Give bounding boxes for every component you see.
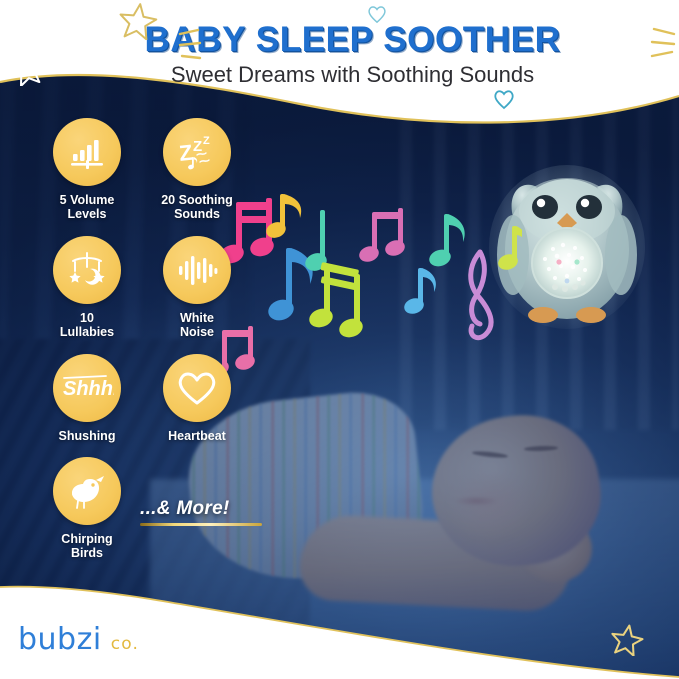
feature-row-3: Shhh... Shushing Heartbeat: [44, 354, 264, 443]
feature-chirping-birds[interactable]: Chirping Birds: [44, 457, 130, 561]
badge-circle: [53, 457, 121, 525]
title-accent-dashes-left: [178, 28, 210, 62]
heart-outline-icon: [176, 369, 218, 407]
feature-label-line1: 5 Volume: [60, 193, 115, 207]
badge-circle: Shhh...: [53, 354, 121, 422]
feature-label: 5 Volume Levels: [44, 193, 130, 222]
badge-circle: [53, 118, 121, 186]
music-note-9-treble-clef: [471, 252, 491, 338]
feature-row-2: 10 Lullabies: [44, 236, 264, 340]
badge-circle: [163, 354, 231, 422]
badge-circle: Z Z Z: [163, 118, 231, 186]
feature-label-line1: 10: [80, 311, 94, 325]
feature-label-line2: Sounds: [174, 207, 220, 221]
feature-label-line1: Shushing: [59, 429, 116, 443]
feature-label-line2: Birds: [71, 546, 103, 560]
svg-text:Z: Z: [178, 140, 194, 166]
more-banner-underline: [140, 523, 262, 526]
feature-label-line1: Heartbeat: [168, 429, 226, 443]
music-note-3: [266, 248, 313, 324]
badge-circle: [53, 236, 121, 304]
feature-label-line1: 20 Soothing: [161, 193, 233, 207]
feature-heartbeat[interactable]: Heartbeat: [154, 354, 240, 443]
music-note-11: [496, 226, 522, 272]
sound-waveform-icon: [176, 250, 218, 290]
feature-label-line2: Noise: [180, 325, 214, 339]
brand-logo[interactable]: bubzi co.: [18, 622, 139, 657]
singing-bird-icon: [66, 471, 108, 511]
volume-bars-icon: [67, 132, 107, 172]
feature-label-line2: Levels: [68, 207, 107, 221]
music-note-6: [307, 262, 365, 340]
feature-label-line2: Lullabies: [60, 325, 114, 339]
svg-text:Z: Z: [203, 135, 210, 147]
brand-name: bubzi: [18, 622, 102, 657]
feature-label: 10 Lullabies: [44, 311, 130, 340]
svg-text:Z: Z: [193, 138, 202, 155]
feature-row-1: 5 Volume Levels Z Z Z: [44, 118, 264, 222]
badge-circle: [163, 236, 231, 304]
feature-label: White Noise: [154, 311, 240, 340]
feature-label-line1: White: [180, 311, 214, 325]
feature-label: Shushing: [44, 429, 130, 443]
music-note-5: [357, 208, 407, 264]
title-accent-dashes-right: [648, 26, 678, 62]
feature-label: Heartbeat: [154, 429, 240, 443]
feature-label: 20 Soothing Sounds: [154, 193, 240, 222]
feature-volume-levels[interactable]: 5 Volume Levels: [44, 118, 130, 222]
feature-soothing-sounds[interactable]: Z Z Z: [154, 118, 240, 222]
music-note-7: [402, 268, 436, 316]
infographic-canvas: BABY SLEEP SOOTHER Sweet Dreams with Soo…: [0, 0, 679, 679]
feature-lullabies[interactable]: 10 Lullabies: [44, 236, 130, 340]
more-banner-text: ...& More!: [140, 498, 270, 520]
feature-label-line1: Chirping: [61, 532, 112, 546]
shhh-icon: Shhh...: [60, 371, 114, 405]
crib-mobile-icon: [66, 249, 108, 291]
feature-label: Chirping Birds: [44, 532, 130, 561]
music-notes-group: [222, 192, 522, 377]
feature-white-noise[interactable]: White Noise: [154, 236, 240, 340]
brand-suffix: co.: [111, 634, 139, 654]
sleeping-zzz-icon: Z Z Z: [176, 131, 218, 173]
more-banner: ...& More!: [140, 498, 270, 526]
music-note-8: [427, 214, 465, 269]
svg-text:Shhh...: Shhh...: [63, 378, 114, 400]
feature-shushing[interactable]: Shhh... Shushing: [44, 354, 130, 443]
